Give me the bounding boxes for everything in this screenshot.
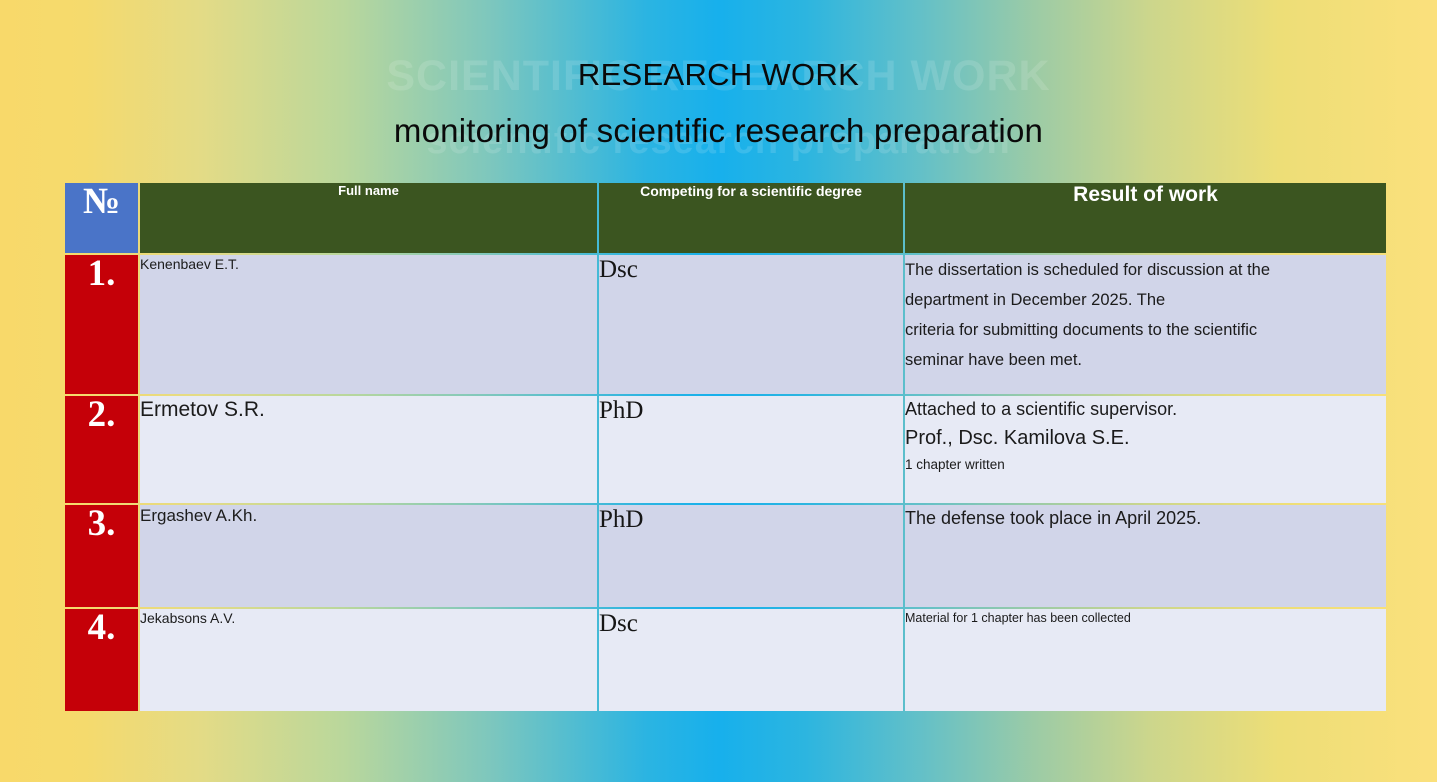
research-monitoring-table: № Full name Competing for a scientific d…: [63, 181, 1388, 713]
row-result-cell: Attached to a scientific supervisor. Pro…: [905, 396, 1386, 503]
result-line: The dissertation is scheduled for discus…: [905, 255, 1386, 285]
result-line: The defense took place in April 2025.: [905, 505, 1386, 532]
full-name-text: Ermetov S.R.: [140, 396, 597, 424]
result-line: Prof., Dsc. Kamilova S.E.: [905, 423, 1386, 454]
slide-canvas: SCIENTIFIC RESEARCH WORK scientific rese…: [0, 0, 1437, 782]
degree-text: Dsc: [599, 609, 903, 639]
row-number-cell: 3.: [65, 505, 138, 607]
row-degree-cell: Dsc: [599, 255, 903, 394]
table-header-row: № Full name Competing for a scientific d…: [65, 183, 1386, 253]
result-line: Material for 1 chapter has been collecte…: [905, 609, 1386, 628]
table-row: 3. Ergashev A.Kh. PhD The defense took p…: [65, 505, 1386, 607]
degree-text: PhD: [599, 505, 903, 535]
row-number-cell: 2.: [65, 396, 138, 503]
row-number-cell: 1.: [65, 255, 138, 394]
table-row: 1. Kenenbaev E.T. Dsc The dissertation i…: [65, 255, 1386, 394]
numero-sign: №: [83, 183, 120, 220]
full-name-text: Jekabsons A.V.: [140, 609, 597, 628]
row-full-name-cell: Ergashev A.Kh.: [140, 505, 597, 607]
table-row: 4. Jekabsons A.V. Dsc Material for 1 cha…: [65, 609, 1386, 711]
column-header-degree: Competing for a scientific degree: [599, 183, 903, 253]
column-header-result: Result of work: [905, 183, 1386, 253]
column-header-full-name: Full name: [140, 183, 597, 253]
full-name-text: Ergashev A.Kh.: [140, 505, 597, 528]
table-row: 2. Ermetov S.R. PhD Attached to a scient…: [65, 396, 1386, 503]
row-number-cell: 4.: [65, 609, 138, 711]
row-degree-cell: PhD: [599, 505, 903, 607]
result-line: 1 chapter written: [905, 454, 1386, 476]
row-result-cell: Material for 1 chapter has been collecte…: [905, 609, 1386, 711]
page-subtitle: monitoring of scientific research prepar…: [0, 112, 1437, 150]
column-header-number: №: [65, 183, 138, 253]
row-degree-cell: Dsc: [599, 609, 903, 711]
row-result-cell: The defense took place in April 2025.: [905, 505, 1386, 607]
row-result-cell: The dissertation is scheduled for discus…: [905, 255, 1386, 394]
page-title: RESEARCH WORK: [0, 58, 1437, 92]
degree-text: PhD: [599, 396, 903, 426]
row-full-name-cell: Kenenbaev E.T.: [140, 255, 597, 394]
result-line: seminar have been met.: [905, 345, 1386, 375]
full-name-text: Kenenbaev E.T.: [140, 255, 597, 274]
result-line: criteria for submitting documents to the…: [905, 315, 1386, 345]
row-full-name-cell: Jekabsons A.V.: [140, 609, 597, 711]
row-degree-cell: PhD: [599, 396, 903, 503]
row-full-name-cell: Ermetov S.R.: [140, 396, 597, 503]
result-line: Attached to a scientific supervisor.: [905, 396, 1386, 423]
result-line: department in December 2025. The: [905, 285, 1386, 315]
title-block: RESEARCH WORK monitoring of scientific r…: [0, 58, 1437, 150]
degree-text: Dsc: [599, 255, 903, 285]
research-monitoring-table-wrapper: № Full name Competing for a scientific d…: [63, 181, 1380, 713]
